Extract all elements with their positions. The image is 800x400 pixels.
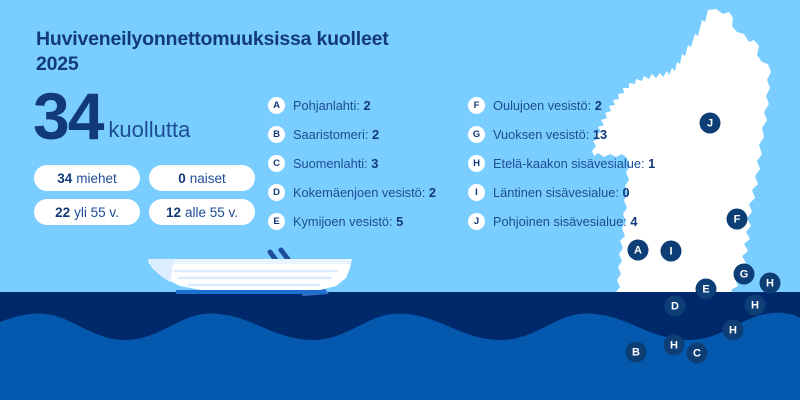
legend-column-left: APohjanlahti: 2BSaaristomeri: 2CSuomenla… xyxy=(268,91,468,236)
map-marker-h: H xyxy=(745,295,766,316)
legend-label-h: Etelä-kaakon sisävesialue: 1 xyxy=(493,156,655,171)
legend-region-value: 2 xyxy=(363,98,370,113)
legend-region-name: Saaristomeri: xyxy=(293,127,372,142)
map-marker-j: J xyxy=(700,113,721,134)
legend-region-name: Oulujoen vesistö: xyxy=(493,98,595,113)
map-marker-h: H xyxy=(760,273,781,294)
legend-label-b: Saaristomeri: 2 xyxy=(293,127,379,142)
map-marker-h: H xyxy=(664,335,685,356)
legend-region-name: Pohjoinen sisävesialue: xyxy=(493,214,630,229)
legend-badge-e: E xyxy=(268,213,285,230)
map-marker-a: A xyxy=(628,240,649,261)
boat-gunwale xyxy=(148,259,352,264)
legend-region-value: 13 xyxy=(593,127,607,142)
statistic-pill-group: 34 miehet 0 naiset 22 yli 55 v. 12 alle … xyxy=(34,165,259,233)
map-marker-b: B xyxy=(626,342,647,363)
rowboat-illustration xyxy=(140,244,360,310)
legend-region-name: Kymijoen vesistö: xyxy=(293,214,396,229)
legend-region-value: 2 xyxy=(372,127,379,142)
legend-badge-d: D xyxy=(268,184,285,201)
legend-item-g: GVuoksen vesistö: 13 xyxy=(468,120,698,149)
map-marker-d: D xyxy=(665,296,686,317)
pill-over-55-value: 22 xyxy=(55,205,70,220)
infographic-canvas: Huviveneilyonnettomuuksissa kuolleet 202… xyxy=(0,0,800,400)
legend-label-c: Suomenlahti: 3 xyxy=(293,156,378,171)
legend-label-j: Pohjoinen sisävesialue: 4 xyxy=(493,214,637,229)
pill-men-label: miehet xyxy=(76,171,117,186)
wave-path xyxy=(0,313,800,400)
legend-column-right: FOulujoen vesistö: 2GVuoksen vesistö: 13… xyxy=(468,91,698,236)
pill-under-55: 12 alle 55 v. xyxy=(149,199,255,225)
legend-label-d: Kokemäenjoen vesistö: 2 xyxy=(293,185,436,200)
legend-region-value: 4 xyxy=(630,214,637,229)
legend-label-i: Läntinen sisävesialue: 0 xyxy=(493,185,630,200)
page-title: Huviveneilyonnettomuuksissa kuolleet 202… xyxy=(36,27,396,77)
map-marker-i: I xyxy=(661,241,682,262)
map-marker-f: F xyxy=(727,209,748,230)
map-marker-e: E xyxy=(696,279,717,300)
map-marker-g: G xyxy=(734,264,755,285)
legend-item-d: DKokemäenjoen vesistö: 2 xyxy=(268,178,468,207)
legend-item-f: FOulujoen vesistö: 2 xyxy=(468,91,698,120)
legend-label-a: Pohjanlahti: 2 xyxy=(293,98,371,113)
pill-row-age: 22 yli 55 v. 12 alle 55 v. xyxy=(34,199,259,225)
death-count-value: 34 xyxy=(33,88,102,145)
death-count-label: kuollutta xyxy=(102,119,190,145)
legend-badge-c: C xyxy=(268,155,285,172)
legend-item-j: JPohjoinen sisävesialue: 4 xyxy=(468,207,698,236)
legend-badge-j: J xyxy=(468,213,485,230)
boat-hull xyxy=(148,259,352,293)
legend-region-name: Vuoksen vesistö: xyxy=(493,127,593,142)
legend-region-value: 3 xyxy=(371,156,378,171)
legend-region-value: 2 xyxy=(595,98,602,113)
legend-label-f: Oulujoen vesistö: 2 xyxy=(493,98,602,113)
pill-over-55-label: yli 55 v. xyxy=(74,205,119,220)
legend-label-e: Kymijoen vesistö: 5 xyxy=(293,214,403,229)
legend-region-value: 1 xyxy=(648,156,655,171)
legend-badge-b: B xyxy=(268,126,285,143)
legend-item-a: APohjanlahti: 2 xyxy=(268,91,468,120)
legend-region-name: Etelä-kaakon sisävesialue: xyxy=(493,156,648,171)
map-marker-c: C xyxy=(687,343,708,364)
legend-badge-f: F xyxy=(468,97,485,114)
legend-item-i: ILäntinen sisävesialue: 0 xyxy=(468,178,698,207)
pill-women-label: naiset xyxy=(190,171,226,186)
pill-men: 34 miehet xyxy=(34,165,140,191)
pill-women-value: 0 xyxy=(178,171,186,186)
legend-item-h: HEtelä-kaakon sisävesialue: 1 xyxy=(468,149,698,178)
pill-women: 0 naiset xyxy=(149,165,255,191)
boat-waterline xyxy=(176,290,326,294)
legend-region-name: Läntinen sisävesialue: xyxy=(493,185,622,200)
legend-region-value: 2 xyxy=(429,185,436,200)
legend-label-g: Vuoksen vesistö: 13 xyxy=(493,127,607,142)
legend-badge-i: I xyxy=(468,184,485,201)
legend-badge-h: H xyxy=(468,155,485,172)
pill-under-55-value: 12 xyxy=(166,205,181,220)
legend-region-value: 0 xyxy=(622,185,629,200)
legend-region-name: Kokemäenjoen vesistö: xyxy=(293,185,429,200)
pill-over-55: 22 yli 55 v. xyxy=(34,199,140,225)
pill-row-gender: 34 miehet 0 naiset xyxy=(34,165,259,191)
headline-statistic: 34 kuollutta xyxy=(33,88,190,145)
pill-under-55-label: alle 55 v. xyxy=(185,205,238,220)
map-marker-h: H xyxy=(723,320,744,341)
legend-region-name: Suomenlahti: xyxy=(293,156,371,171)
legend-item-b: BSaaristomeri: 2 xyxy=(268,120,468,149)
boat-bow xyxy=(148,259,174,282)
legend-badge-a: A xyxy=(268,97,285,114)
legend-region-name: Pohjanlahti: xyxy=(293,98,363,113)
region-legend: APohjanlahti: 2BSaaristomeri: 2CSuomenla… xyxy=(268,91,698,236)
legend-region-value: 5 xyxy=(396,214,403,229)
pill-men-value: 34 xyxy=(57,171,72,186)
legend-badge-g: G xyxy=(468,126,485,143)
legend-item-e: EKymijoen vesistö: 5 xyxy=(268,207,468,236)
legend-item-c: CSuomenlahti: 3 xyxy=(268,149,468,178)
